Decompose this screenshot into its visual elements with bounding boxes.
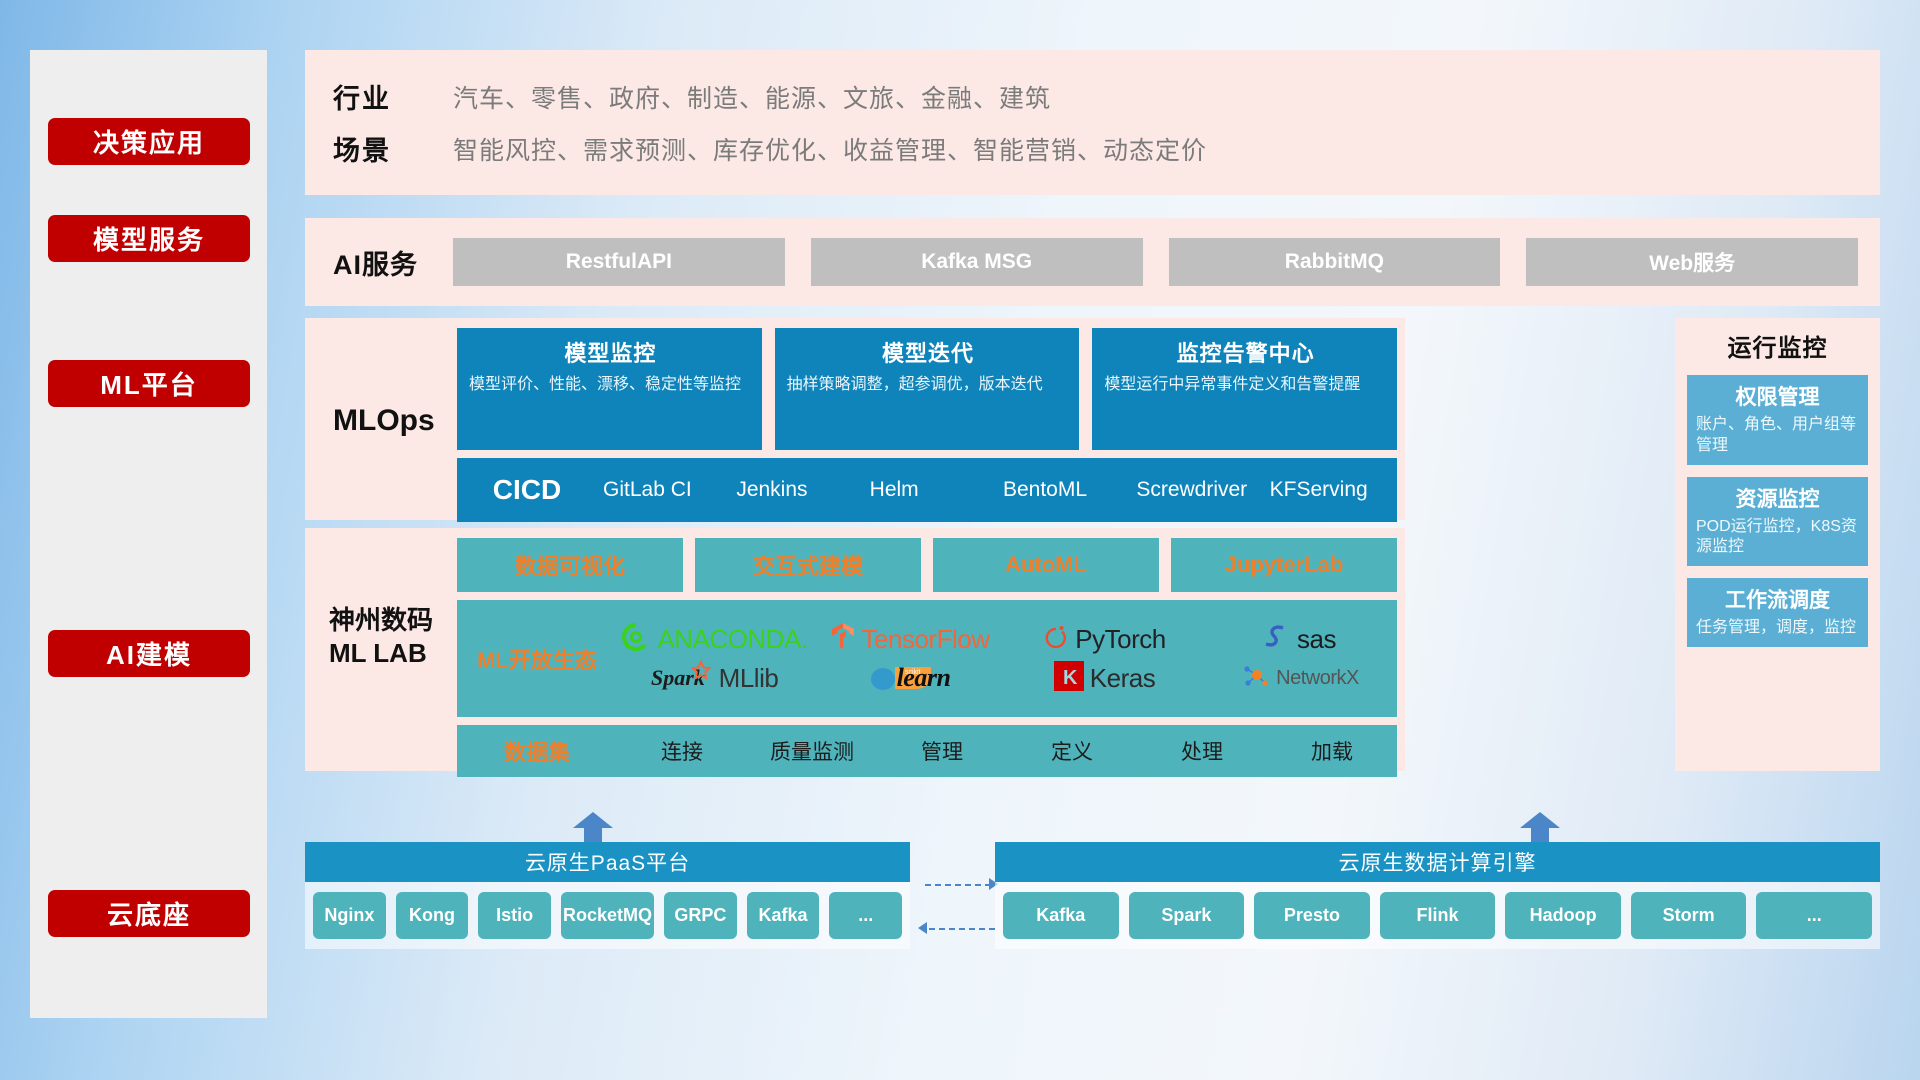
industry-scenario-band: 行业 汽车、零售、政府、制造、能源、文旅、金融、建筑 场景 智能风控、需求预测、… [305,50,1880,195]
stack-layer-rail: 决策应用 模型服务 ML平台 AI建模 云底座 [30,50,267,1018]
compute-chip-more[interactable]: ... [1756,892,1872,939]
paas-chip-kafka[interactable]: Kafka [747,892,820,939]
monitor-card-desc: 任务管理，调度，监控 [1696,618,1859,639]
paas-chip-rocketmq[interactable]: RocketMQ [561,892,654,939]
scenario-label: 场景 [333,129,453,168]
dataset-item-define[interactable]: 定义 [1007,736,1137,766]
industry-label: 行业 [333,77,453,116]
mlops-card-model-monitor[interactable]: 模型监控 模型评价、性能、漂移、稳定性等监控 [457,328,762,450]
mlops-card-desc: 模型评价、性能、漂移、稳定性等监控 [469,374,752,395]
tool-chip-data-visualization[interactable]: 数据可视化 [457,538,683,592]
cicd-item-screwdriver[interactable]: Screwdriver [1130,478,1263,502]
paas-chip-istio[interactable]: Istio [478,892,551,939]
mlops-card-desc: 模型运行中异常事件定义和告警提醒 [1104,374,1387,395]
cicd-title: CICD [457,474,597,506]
mlops-band: MLOps 模型监控 模型评价、性能、漂移、稳定性等监控 模型迭代 抽样策略调整… [305,318,1405,520]
mlops-card-model-iteration[interactable]: 模型迭代 抽样策略调整，超参调优，版本迭代 [775,328,1080,450]
ai-service-label: AI服务 [305,243,453,282]
paas-chip-grpc[interactable]: GRPC [664,892,737,939]
svg-text:K: K [1063,667,1078,689]
compute-chip-presto[interactable]: Presto [1254,892,1370,939]
tool-chip-interactive-modeling[interactable]: 交互式建模 [695,538,921,592]
anaconda-icon [621,622,651,657]
cicd-item-gitlab-ci[interactable]: GitLab CI [597,478,730,502]
cicd-item-bentoml[interactable]: BentoML [997,478,1130,502]
anaconda-wordmark: ANACONDA. [657,624,807,655]
monitor-card-permission[interactable]: 权限管理 账户、角色、用户组等管理 [1687,375,1868,465]
sas-icon [1263,622,1291,657]
mlops-card-title: 监控告警中心 [1104,336,1387,368]
monitor-card-title: 资源监控 [1696,483,1859,513]
ml-lab-label-line2: ML LAB [329,637,457,670]
industry-values: 汽车、零售、政府、制造、能源、文旅、金融、建筑 [453,79,1051,115]
keras-icon: K [1054,661,1084,696]
cicd-item-kfserving[interactable]: KFServing [1264,478,1397,502]
mlops-card-desc: 抽样策略调整，超参调优，版本迭代 [787,374,1070,395]
logo-pytorch: PyTorch [1007,622,1202,657]
compute-chip-flink[interactable]: Flink [1380,892,1496,939]
ai-service-chip-rabbitmq[interactable]: RabbitMQ [1169,238,1501,286]
compute-chip-spark[interactable]: Spark [1129,892,1245,939]
mlops-card-title: 模型迭代 [787,336,1070,368]
ai-service-chip-kafka-msg[interactable]: Kafka MSG [811,238,1143,286]
dataset-item-quality[interactable]: 质量监测 [747,736,877,766]
scenario-values: 智能风控、需求预测、库存优化、收益管理、智能营销、动态定价 [453,131,1207,167]
monitor-card-title: 工作流调度 [1696,584,1859,614]
cicd-item-helm[interactable]: Helm [864,478,997,502]
cloud-paas-block: 云原生PaaS平台 Nginx Kong Istio RocketMQ GRPC… [305,818,910,949]
compute-chip-hadoop[interactable]: Hadoop [1505,892,1621,939]
logo-scikit-learn: scikit learn [812,659,1007,698]
logo-spark-mllib: Spark MLlib [617,659,812,698]
monitor-card-title: 权限管理 [1696,381,1859,411]
networkx-icon [1240,661,1270,696]
mlops-card-alert-center[interactable]: 监控告警中心 模型运行中异常事件定义和告警提醒 [1092,328,1397,450]
cloud-compute-block: 云原生数据计算引擎 Kafka Spark Presto Flink Hadoo… [995,818,1880,949]
ai-modeling-band: 神州数码 ML LAB 数据可视化 交互式建模 AutoML JupyterLa… [305,528,1405,771]
dataset-item-manage[interactable]: 管理 [877,736,1007,766]
ml-lab-label-line1: 神州数码 [329,604,457,637]
rail-item-ai-modeling[interactable]: AI建模 [48,630,250,677]
mllib-wordmark: MLlib [719,663,779,694]
dataset-title: 数据集 [457,735,617,767]
tool-chip-automl[interactable]: AutoML [933,538,1159,592]
paas-chip-nginx[interactable]: Nginx [313,892,386,939]
dataset-item-connect[interactable]: 连接 [617,736,747,766]
keras-wordmark: Keras [1090,663,1155,694]
tensorflow-icon [830,622,856,657]
dataset-item-process[interactable]: 处理 [1137,736,1267,766]
industry-row: 行业 汽车、零售、政府、制造、能源、文旅、金融、建筑 [333,71,1880,123]
logo-tensorflow: TensorFlow [812,622,1007,657]
runtime-monitor-panel: 运行监控 权限管理 账户、角色、用户组等管理 资源监控 POD运行监控，K8S资… [1675,318,1880,771]
ml-ecosystem-row: ML开放生态 ANACONDA. TensorFlow [457,600,1397,717]
cicd-bar: CICD GitLab CI Jenkins Helm BentoML Scre… [457,458,1397,522]
mlops-label: MLOps [305,318,457,438]
monitor-card-resource[interactable]: 资源监控 POD运行监控，K8S资源监控 [1687,477,1868,567]
logo-anaconda: ANACONDA. [617,622,812,657]
architecture-main: 行业 汽车、零售、政府、制造、能源、文旅、金融、建筑 场景 智能风控、需求预测、… [305,50,1880,1018]
rail-item-decision-app[interactable]: 决策应用 [48,118,250,165]
ai-service-chip-restfulapi[interactable]: RestfulAPI [453,238,785,286]
networkx-wordmark: NetworkX [1276,667,1359,690]
scenario-row: 场景 智能风控、需求预测、库存优化、收益管理、智能营销、动态定价 [333,123,1880,175]
tool-chip-jupyterlab[interactable]: JupyterLab [1171,538,1397,592]
ai-service-band: AI服务 RestfulAPI Kafka MSG RabbitMQ Web服务 [305,218,1880,306]
logo-networkx: NetworkX [1202,661,1397,696]
logo-sas: sas [1202,622,1397,657]
monitor-card-desc: 账户、角色、用户组等管理 [1696,415,1859,457]
monitor-card-desc: POD运行监控，K8S资源监控 [1696,517,1859,559]
sas-wordmark: sas [1297,624,1336,655]
rail-item-model-service[interactable]: 模型服务 [48,215,250,262]
rail-item-ml-platform[interactable]: ML平台 [48,360,250,407]
rail-item-cloud-base[interactable]: 云底座 [48,890,250,937]
ml-lab-label: 神州数码 ML LAB [305,528,457,669]
cicd-item-jenkins[interactable]: Jenkins [730,478,863,502]
compute-chip-kafka[interactable]: Kafka [1003,892,1119,939]
cloud-compute-title: 云原生数据计算引擎 [995,842,1880,882]
ai-service-chip-web[interactable]: Web服务 [1526,238,1858,286]
cloud-paas-title: 云原生PaaS平台 [305,842,910,882]
logo-keras: K Keras [1007,661,1202,696]
pytorch-wordmark: PyTorch [1075,624,1165,655]
mlops-card-title: 模型监控 [469,336,752,368]
runtime-monitor-title: 运行监控 [1687,328,1868,363]
paas-chip-kong[interactable]: Kong [396,892,469,939]
cloud-foundation: 云原生PaaS平台 Nginx Kong Istio RocketMQ GRPC… [305,818,1880,1018]
compute-chip-storm[interactable]: Storm [1631,892,1747,939]
spark-icon: Spark [651,659,713,698]
paas-chip-more[interactable]: ... [829,892,902,939]
monitor-card-workflow[interactable]: 工作流调度 任务管理，调度，监控 [1687,578,1868,647]
dataset-item-load[interactable]: 加载 [1267,736,1397,766]
tensorflow-wordmark: TensorFlow [862,624,990,655]
ml-ecosystem-label: ML开放生态 [457,643,617,675]
pytorch-icon [1043,622,1069,657]
dataset-row: 数据集 连接 质量监测 管理 定义 处理 加载 [457,725,1397,777]
scikit-learn-wordmark: learn [897,663,951,693]
